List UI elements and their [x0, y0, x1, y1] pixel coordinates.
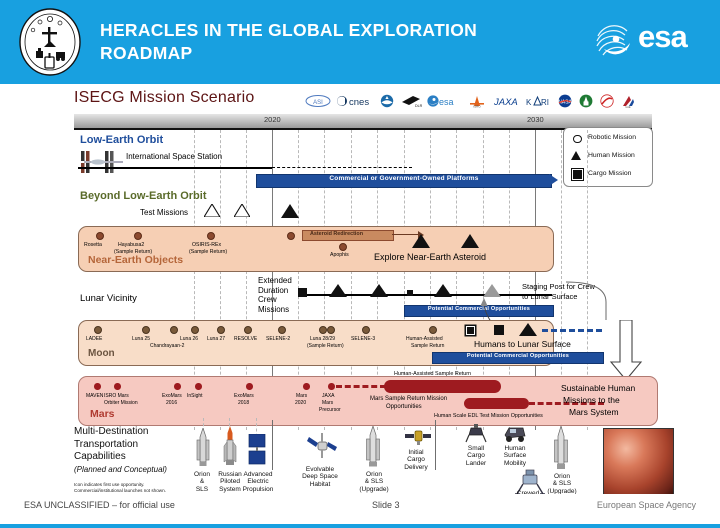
first-human-mission-triangle: [281, 204, 299, 218]
moon-label-selene2: SELENE-2: [266, 336, 290, 342]
page-title: HERACLES IN THE GLOBAL EXPLORATION ROADM…: [100, 19, 570, 65]
transport-section: Multi-Destination Transportation Capabil…: [74, 424, 652, 498]
moon-label-human-assisted-2: Sample Return: [411, 343, 444, 349]
caption-deep-space-habitat: EvolvableDeep SpaceHabitat: [296, 466, 344, 488]
transport-separator-1: [272, 420, 273, 470]
moon-marker-luna27: [217, 326, 225, 334]
moon-label-selene3: SELENE-3: [351, 336, 375, 342]
test-missions-label: Test Missions: [140, 208, 188, 217]
moon-marker-chandrayaan2: [170, 326, 178, 334]
agency-logo-csa: [379, 94, 395, 109]
mars-planet-image: [603, 428, 674, 496]
svg-text:UAE: UAE: [625, 105, 631, 108]
neo-marker-rosetta: [96, 232, 104, 240]
iss-line-dashed: [272, 167, 412, 168]
mars-marker-jaxa-precursor: [328, 383, 335, 390]
footer-org: European Space Agency: [597, 500, 696, 510]
sustainable-label-2: Missions to the: [563, 395, 620, 405]
timeline-year-2030: 2030: [527, 115, 544, 124]
transport-note: Icon indicates first use opportunity. Co…: [74, 482, 166, 494]
page-header: HERACLES IN THE GLOBAL EXPLORATION ROADM…: [0, 0, 720, 84]
humans-to-surface-dash: [542, 329, 602, 332]
caption-initial-cargo: InitialCargoDelivery: [396, 449, 436, 471]
mars-label-exomars2018-1: ExoMars: [234, 393, 254, 399]
neo-marker-hayabusa2: [134, 232, 142, 240]
commercial-platforms-bar: Commercial or Government-Owned Platforms: [256, 174, 552, 188]
moon-marker-selene3: [362, 326, 370, 334]
slide-body: ISECG Mission Scenario ASI cnes DLR esa …: [0, 84, 720, 494]
mars-label-exomars2016-2: 2016: [166, 400, 177, 406]
section-label-mars: Mars: [90, 408, 115, 420]
moon-marker-luna29: [327, 326, 335, 334]
svg-text:cnes: cnes: [349, 97, 369, 108]
mars-label-exomars2018-2: 2018: [238, 400, 249, 406]
svg-text:DLR: DLR: [415, 104, 422, 108]
agency-logo-dlr: DLR: [400, 94, 422, 109]
esa-logo: esa: [594, 22, 704, 62]
section-label-leo: Low-Earth Orbit: [80, 134, 163, 146]
moon-label-chandrayaan2: Chandrayaan-2: [150, 343, 184, 349]
agency-logo-esa-small: esa: [427, 94, 461, 109]
mars-marker-maven: [94, 383, 101, 390]
orion-sls-upgrade-icon-2: [551, 426, 571, 477]
transport-title: Multi-Destination Transportation Capabil…: [74, 426, 167, 476]
mars-label-jaxa-2: Mars: [322, 400, 333, 406]
section-label-beyond-leo: Beyond Low-Earth Orbit: [80, 190, 207, 202]
neo-label-rosetta: Rosetta: [84, 242, 102, 248]
test-mission-triangle-1: [204, 204, 220, 217]
iss-label: International Space Station: [126, 152, 222, 161]
advanced-electric-propulsion-icon: [247, 434, 267, 471]
agency-logo-asi: ASI: [305, 94, 331, 109]
moon-cargo-square-large: [494, 325, 504, 335]
iss-line: [78, 167, 272, 169]
moon-commercial-bar: Potential Commercial Opportunities: [432, 352, 604, 364]
agency-logo-uae: UAE: [620, 94, 636, 109]
iss-icon: [78, 150, 124, 174]
mars-label-isro-2: Orbiter Mission: [104, 400, 138, 406]
mars-dash-1: [336, 385, 386, 388]
agency-logo-cnes: cnes: [336, 94, 374, 109]
neo-sub-hayabusa2: (Sample Return): [114, 249, 152, 255]
caption-orion-sls-upgrade-2: Orion& SLS(Upgrade): [544, 473, 580, 495]
mars-label-insight: InSight: [187, 393, 203, 399]
agency-logo-row: ASI cnes DLR esa ISRO JAXA KRI: [305, 91, 650, 111]
mars-label-mars2020-2: 2020: [295, 400, 306, 406]
agency-logo-cnsa: [599, 94, 615, 109]
neo-label-apophis: Apophis: [330, 252, 349, 258]
moon-label-luna26: Luna 26: [180, 336, 198, 342]
section-label-neo: Near-Earth Objects: [88, 254, 183, 266]
moon-label-resolve: RESOLVE: [234, 336, 257, 342]
agency-logo-nasa: NASA: [557, 94, 573, 109]
mars-sample-return-bar: [384, 380, 501, 393]
neo-label-hayabusa2: Hayabusa2: [118, 242, 144, 248]
mars-label-exomars2016-1: ExoMars: [162, 393, 182, 399]
moon-human-triangle: [519, 323, 537, 336]
moon-marker-luna26: [191, 326, 199, 334]
svg-text:esa: esa: [439, 97, 454, 107]
footer-blue-strip: [0, 524, 720, 528]
slide-root: HERACLES IN THE GLOBAL EXPLORATION ROADM…: [0, 0, 720, 528]
mars-marker-insight: [195, 383, 202, 390]
msr-opportunities-label-1: Mars Sample Return Mission: [370, 396, 447, 402]
transport-title-l2: Transportation: [74, 439, 167, 452]
mars-label-jaxa-3: Precursor: [319, 407, 341, 413]
asteroid-redirection-label: Asteroid Redirection: [310, 231, 363, 237]
moon-label-luna27: Luna 27: [207, 336, 225, 342]
caption-orion-sls-upgrade-1: Orion& SLS(Upgrade): [356, 471, 392, 493]
mars-human-assisted-sr-label: Human-Assisted Sample Return: [394, 371, 471, 377]
mars-marker-mars2020: [303, 383, 310, 390]
footer-slide-number: Slide 3: [372, 500, 400, 510]
moon-label-human-assisted-1: Human-Assisted: [406, 336, 443, 342]
moon-label-luna2829: Luna 28/29: [310, 336, 335, 342]
mars-label-isro-1: ISRO Mars: [104, 393, 129, 399]
commercial-platforms-label: Commercial or Government-Owned Platforms: [257, 175, 551, 183]
esa-wordmark: esa: [638, 19, 687, 55]
orion-sls-upgrade-icon-1: [363, 426, 383, 475]
humans-to-lunar-surface-label: Humans to Lunar Surface: [474, 339, 571, 349]
transport-title-l3: Capabilities: [74, 451, 167, 464]
mars-label-maven: MAVEN: [86, 393, 103, 399]
neo-sub-osiris-rex: (Sample Return): [189, 249, 227, 255]
msr-opportunities-label-2: Opportunities: [386, 404, 422, 410]
commercial-platforms-arrow: [549, 174, 558, 186]
lunar-human-triangle-2: [370, 284, 388, 297]
moon-marker-human-assisted-sr: [429, 326, 437, 334]
svg-text:ASI: ASI: [313, 100, 323, 106]
lunar-human-triangle-3: [434, 284, 452, 297]
agency-logo-kari: KRI: [526, 94, 552, 109]
moon-label-luna25: Luna 25: [132, 336, 150, 342]
svg-text:JAXA: JAXA: [493, 97, 518, 108]
moon-marker-luna28: [319, 326, 327, 334]
svg-text:K: K: [526, 98, 532, 107]
caption-aep: AdvancedElectricPropulsion: [240, 471, 276, 493]
mars-marker-exomars2016: [174, 383, 181, 390]
lunar-to-moon-curve: [566, 278, 626, 322]
neo-marker-osiris-rex: [207, 232, 215, 240]
section-label-lunar-vicinity: Lunar Vicinity: [80, 293, 137, 304]
edl-test-bar: [464, 398, 529, 409]
moon-sub-luna2829: (Sample Return): [307, 343, 344, 349]
neo-marker-apophis: [339, 243, 347, 251]
svg-text:ISRO: ISRO: [473, 105, 481, 108]
mars-marker-isro: [114, 383, 121, 390]
agency-logo-roscosmos: [578, 94, 594, 109]
deep-space-habitat-icon: [307, 432, 337, 467]
lunar-cargo-square-1: [298, 288, 307, 297]
caption-small-cargo-lander: SmallCargoLander: [456, 445, 496, 467]
neo-marker-redirect: [287, 232, 295, 240]
mars-label-mars2020-1: Mars: [296, 393, 307, 399]
lunar-cargo-square-2: [407, 290, 413, 296]
section-label-moon: Moon: [88, 348, 115, 359]
moon-marker-selene2: [278, 326, 286, 334]
caption-human-surface-mobility: HumanSurfaceMobility: [494, 445, 536, 467]
moon-marker-ladee: [94, 326, 102, 334]
sustainable-label-1: Sustainable Human: [561, 383, 635, 393]
moon-cargo-square-small: [467, 327, 474, 334]
moon-marker-resolve: [244, 326, 252, 334]
edl-opportunities-label: Human Scale EDL Test Mission Opportuniti…: [434, 413, 543, 419]
lunar-human-triangle-1: [329, 284, 347, 297]
agency-logo-jaxa: JAXA: [493, 94, 521, 109]
page-footer: ESA UNCLASSIFIED – for official use Slid…: [0, 494, 720, 528]
mars-label-jaxa-1: JAXA: [322, 393, 335, 399]
footer-classification: ESA UNCLASSIFIED – for official use: [24, 500, 175, 510]
transport-subtitle: (Planned and Conceptual): [74, 465, 167, 474]
moon-label-ladee: LADEE: [86, 336, 102, 342]
agency-logo-isro: ISRO: [466, 94, 488, 109]
neo-human-triangle-2: [461, 234, 479, 248]
russian-piloted-system-icon: [221, 426, 239, 475]
svg-text:RI: RI: [541, 98, 549, 107]
roadmap-chart: Low-Earth Orbit International Space Stat…: [74, 130, 652, 430]
isecg-title: ISECG Mission Scenario: [74, 89, 254, 107]
orion-sls-icon: [194, 428, 212, 475]
moon-marker-luna25: [142, 326, 150, 334]
transport-title-l1: Multi-Destination: [74, 426, 167, 439]
neo-human-triangle-1: [412, 234, 430, 248]
explore-nea-label: Explore Near-Earth Asteroid: [374, 252, 486, 262]
heracles-logo-icon: [14, 7, 86, 77]
neo-label-osiris-rex: OSIRIS-REx: [192, 242, 221, 248]
sustainable-label-3: Mars System: [569, 407, 619, 417]
timeline-year-2020: 2020: [264, 115, 281, 124]
moon-commercial-label: Potential Commercial Opportunities: [433, 353, 603, 360]
mars-marker-exomars2018: [246, 383, 253, 390]
